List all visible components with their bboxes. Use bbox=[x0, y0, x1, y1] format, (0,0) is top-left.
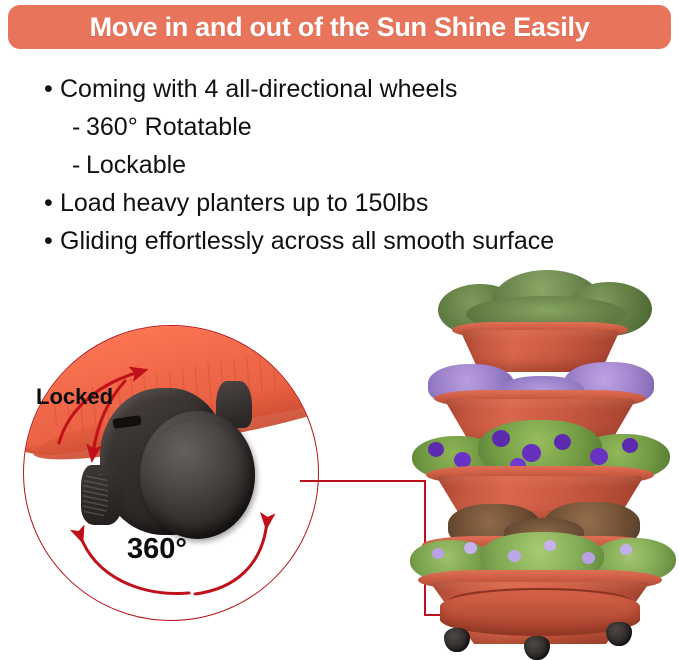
list-item: • Gliding effortlessly across all smooth… bbox=[44, 224, 669, 258]
sub-list-item-label: Lockable bbox=[86, 148, 186, 182]
planter-tower-image bbox=[404, 270, 676, 654]
callout-arrows bbox=[23, 325, 319, 621]
caster-detail-callout: Locked 360° bbox=[23, 325, 319, 621]
base-caster-right bbox=[606, 622, 632, 646]
bullet-icon: • bbox=[44, 224, 60, 258]
locked-label: Locked bbox=[36, 384, 113, 410]
dash-icon: - bbox=[72, 148, 86, 182]
list-item: • Load heavy planters up to 150lbs bbox=[44, 186, 669, 220]
sub-list-item: - Lockable bbox=[72, 148, 669, 182]
rotation-arc-right bbox=[195, 521, 267, 594]
list-item-label: Coming with 4 all-directional wheels bbox=[60, 72, 457, 106]
base-caster-left bbox=[444, 628, 470, 652]
header-banner: Move in and out of the Sun Shine Easily bbox=[8, 5, 671, 49]
rotation-label: 360° bbox=[127, 533, 187, 566]
bullet-icon: • bbox=[44, 72, 60, 106]
base-caster-center bbox=[524, 636, 550, 660]
list-item-label: Load heavy planters up to 150lbs bbox=[60, 186, 428, 220]
dash-icon: - bbox=[72, 110, 86, 144]
planter-tier-2 bbox=[404, 390, 676, 440]
page-title: Move in and out of the Sun Shine Easily bbox=[90, 12, 590, 43]
feature-list: • Coming with 4 all-directional wheels -… bbox=[44, 72, 669, 262]
sub-list-item-label: 360° Rotatable bbox=[86, 110, 252, 144]
planter-tier-3 bbox=[404, 466, 676, 518]
sub-list-item: - 360° Rotatable bbox=[72, 110, 669, 144]
list-item: • Coming with 4 all-directional wheels bbox=[44, 72, 669, 106]
list-item-label: Gliding effortlessly across all smooth s… bbox=[60, 224, 554, 258]
bullet-icon: • bbox=[44, 186, 60, 220]
planter-tier-1 bbox=[404, 322, 676, 370]
